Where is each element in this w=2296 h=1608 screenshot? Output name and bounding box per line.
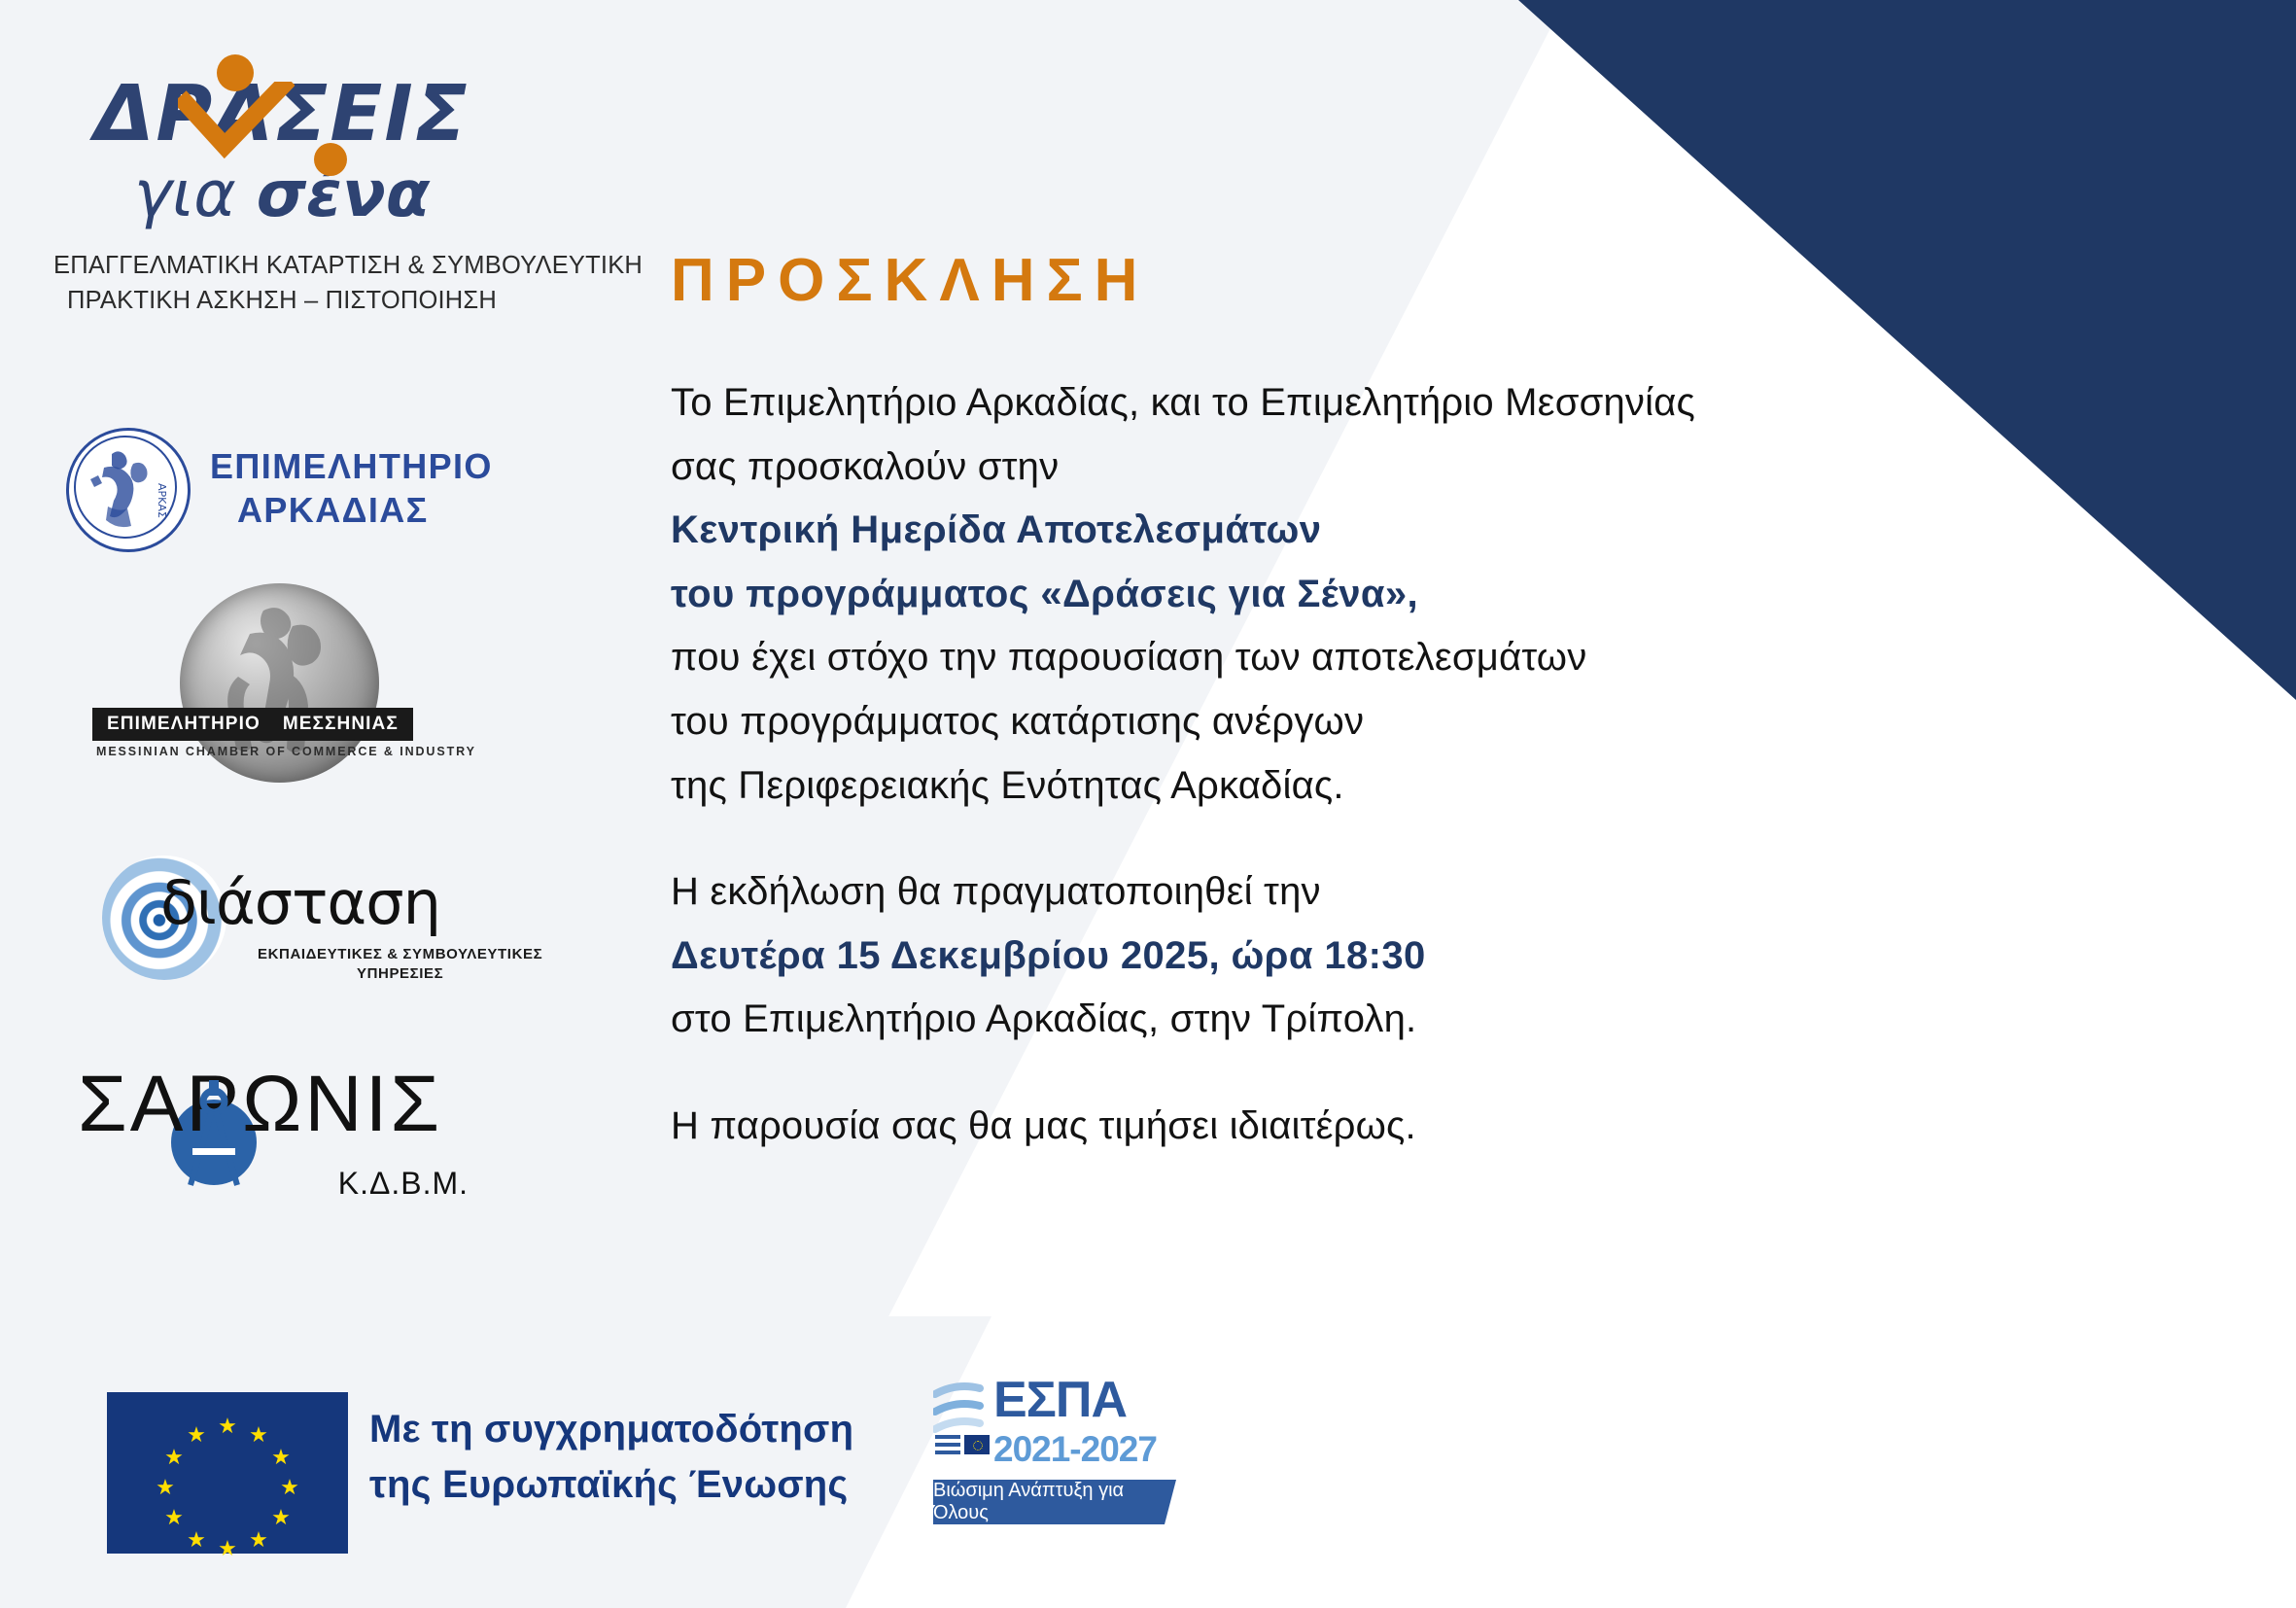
body-line-5: που έχει στόχο την παρουσίαση των αποτελ… (671, 626, 2032, 690)
espa-tagline: Βιώσιμη Ανάπτυξη για Όλους (933, 1480, 1176, 1524)
espa-logo: ΕΣΠΑ 2021-2027 Βιώσιμη Ανάπτυξη για Όλου… (933, 1375, 1176, 1555)
figure-head-icon-2 (314, 143, 347, 176)
invitation-body: Το Επιμελητήριο Αρκαδίας, και το Επιμελη… (671, 371, 2032, 1159)
body-spacer-2 (671, 1052, 2032, 1095)
messinia-label-bar: ΕΠΙΜΕΛΗΤΗΡΙΟ ΜΕΣΣΗΝΙΑΣ (92, 708, 413, 741)
espa-years: 2021-2027 (993, 1431, 1157, 1467)
program-logo-subtitle: ΕΠΑΓΓΕΛΜΑΤΙΚΗ ΚΑΤΑΡΤΙΣΗ & ΣΥΜΒΟΥΛΕΥΤΙΚΗ … (53, 248, 510, 318)
program-logo-line2-plain: για (134, 157, 257, 231)
page-title: ΠΡΟΣΚΛΗΣΗ (671, 251, 2032, 311)
invitation-main: ΠΡΟΣΚΛΗΣΗ Το Επιμελητήριο Αρκαδίας, και … (671, 0, 2032, 1159)
arkadia-chamber-logo: ΑΡΚΑΣ ΕΠΙΜΕΛΗΤΗΡΙΟ ΑΡΚΑΔΙΑΣ (66, 428, 494, 554)
program-logo-line1: ΔΡΑΣΕΙΣ (53, 76, 510, 153)
diastasi-logo: διάσταση ΕΚΠΑΙΔΕΥΤΙΚΕΣ & ΣΥΜΒΟΥΛΕΥΤΙΚΕΣ … (102, 856, 510, 1001)
diastasi-subtitle-line2: ΥΠΗΡΕΣΙΕΣ (258, 964, 542, 984)
body-line-11-closing: Η παρουσία σας θα μας τιμήσει ιδιαιτέρως… (671, 1095, 2032, 1159)
greek-flag-icon (935, 1435, 960, 1454)
compass-icon (171, 1078, 257, 1191)
arkadia-seal-icon: ΑΡΚΑΣ (66, 428, 191, 552)
program-logo-subtitle-line1: ΕΠΑΓΓΕΛΜΑΤΙΚΗ ΚΑΤΑΡΤΙΣΗ & ΣΥΜΒΟΥΛΕΥΤΙΚΗ (53, 248, 510, 283)
body-line-1: Το Επιμελητήριο Αρκαδίας, και το Επιμελη… (671, 371, 2032, 436)
eu-cofinancing-line2: της Ευρωπαϊκής Ένωσης (369, 1457, 853, 1513)
messinia-chamber-logo: ΕΠΙΜΕΛΗΤΗΡΙΟ ΜΕΣΣΗΝΙΑΣ MESSINIAN CHAMBER… (92, 583, 501, 797)
program-logo-line2: για σένα (53, 162, 510, 227)
body-line-6: του προγράμματος κατάρτισης ανέργων (671, 690, 2032, 754)
body-line-10-venue: στο Επιμελητήριο Αρκαδίας, στην Τρίπολη. (671, 988, 2032, 1052)
logo-column: ΔΡΑΣΕΙΣ για σένα ΕΠΑΓΓΕΛΜΑΤΙΚΗ ΚΑΤΑΡΤΙΣΗ… (0, 0, 544, 1293)
body-line-7: της Περιφερειακής Ενότητας Αρκαδίας. (671, 754, 2032, 819)
figure-head-icon (217, 54, 254, 91)
diastasi-subtitle: ΕΚΠΑΙΔΕΥΤΙΚΕΣ & ΣΥΜΒΟΥΛΕΥΤΙΚΕΣ ΥΠΗΡΕΣΙΕΣ (258, 945, 542, 985)
saronis-wordmark: ΣΑΡΩΝΙΣ (78, 1065, 486, 1144)
body-line-9-datetime: Δευτέρα 15 Δεκεμβρίου 2025, ώρα 18:30 (671, 925, 2032, 989)
messinia-subtitle: MESSINIAN CHAMBER OF COMMERCE & INDUSTRY (96, 745, 476, 758)
body-spacer-1 (671, 818, 2032, 860)
espa-mini-flags (935, 1435, 990, 1454)
saronis-subtitle: Κ.Δ.Β.Μ. (338, 1166, 469, 1202)
program-logo: ΔΡΑΣΕΙΣ για σένα ΕΠΑΓΓΕΛΜΑΤΙΚΗ ΚΑΤΑΡΤΙΣΗ… (53, 76, 510, 318)
eu-cofinancing-line1: Με τη συγχρηματοδότηση (369, 1402, 853, 1457)
eu-flag-icon: ★ ★ ★ ★ ★ ★ ★ ★ ★ ★ ★ ★ (107, 1392, 348, 1554)
svg-text:ΑΡΚΑΣ: ΑΡΚΑΣ (156, 483, 168, 518)
saronis-logo: ΣΑΡΩΝΙΣ Κ.Δ.Β.Μ. (78, 1065, 486, 1220)
messinia-label-left: ΕΠΙΜΕΛΗΤΗΡΙΟ (100, 712, 267, 737)
messinia-label-right: ΜΕΣΣΗΝΙΑΣ (276, 712, 405, 737)
body-line-8: Η εκδήλωση θα πραγματοποιηθεί την (671, 860, 2032, 925)
eu-mini-flag-icon (964, 1435, 990, 1454)
body-line-4-program-name: του προγράμματος «Δράσεις για Σένα», (671, 563, 2032, 627)
diastasi-wordmark: διάσταση (160, 873, 440, 933)
arkadia-chamber-text: ΕΠΙΜΕΛΗΤΗΡΙΟ ΑΡΚΑΔΙΑΣ (210, 445, 493, 532)
diastasi-subtitle-line1: ΕΚΠΑΙΔΕΥΤΙΚΕΣ & ΣΥΜΒΟΥΛΕΥΤΙΚΕΣ (258, 946, 542, 962)
body-line-2: σας προσκαλούν στην (671, 436, 2032, 500)
eu-cofinancing-text: Με τη συγχρηματοδότηση της Ευρωπαϊκής Έν… (369, 1402, 853, 1513)
footer: ★ ★ ★ ★ ★ ★ ★ ★ ★ ★ ★ ★ Με τη συγχρηματο… (0, 1316, 2296, 1608)
arkadia-chamber-line2: ΑΡΚΑΔΙΑΣ (210, 489, 493, 533)
check-mark-icon (178, 82, 295, 165)
invitation-poster: ΔΡΑΣΕΙΣ για σένα ΕΠΑΓΓΕΛΜΑΤΙΚΗ ΚΑΤΑΡΤΙΣΗ… (0, 0, 2296, 1608)
espa-wordmark: ΕΣΠΑ (993, 1375, 1127, 1425)
program-logo-subtitle-line2: ΠΡΑΚΤΙΚΗ ΑΣΚΗΣΗ – ΠΙΣΤΟΠΟΙΗΣΗ (53, 283, 510, 318)
arkadia-chamber-line1: ΕΠΙΜΕΛΗΤΗΡΙΟ (210, 446, 493, 486)
body-line-3-event-title: Κεντρική Ημερίδα Αποτελεσμάτων (671, 499, 2032, 563)
